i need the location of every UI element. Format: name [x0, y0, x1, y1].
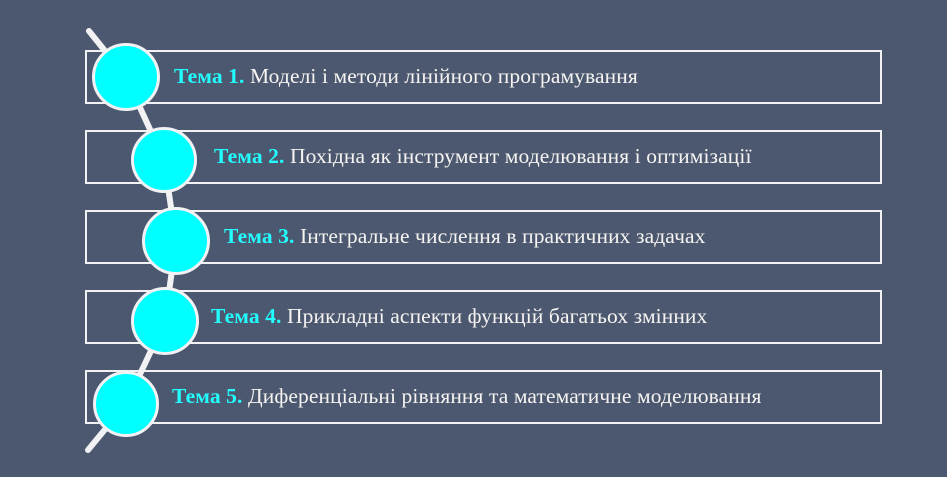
- topic-row-label: Тема 5. Диференціальні рівняння та матем…: [172, 386, 761, 408]
- diagram-canvas: Тема 1. Моделі і методи лінійного програ…: [0, 0, 947, 477]
- topic-row-label: Тема 3. Інтегральне числення в практични…: [224, 226, 705, 248]
- topic-title-text: Інтегральне числення в практичних задача…: [300, 224, 705, 248]
- timeline-node-circle[interactable]: [92, 43, 160, 111]
- timeline-node-circle[interactable]: [142, 207, 210, 275]
- topic-row[interactable]: Тема 2. Похідна як інструмент моделюванн…: [85, 130, 882, 184]
- topic-number-label: Тема 1.: [174, 64, 245, 88]
- topic-number-label: Тема 3.: [224, 224, 295, 248]
- timeline-node-circle[interactable]: [131, 287, 199, 355]
- topic-row[interactable]: Тема 1. Моделі і методи лінійного програ…: [85, 50, 882, 104]
- topic-row[interactable]: Тема 5. Диференціальні рівняння та матем…: [85, 370, 882, 424]
- timeline-node-circle[interactable]: [93, 371, 159, 437]
- topic-number-label: Тема 4.: [211, 304, 282, 328]
- topic-title-text: Похідна як інструмент моделювання і опти…: [290, 144, 752, 168]
- topic-title-text: Моделі і методи лінійного програмування: [250, 64, 638, 88]
- topic-number-label: Тема 2.: [214, 144, 285, 168]
- topic-row-label: Тема 2. Похідна як інструмент моделюванн…: [214, 146, 752, 168]
- timeline-node-circle[interactable]: [131, 127, 197, 193]
- topic-title-text: Прикладні аспекти функцій багатьох змінн…: [287, 304, 707, 328]
- topic-row-label: Тема 4. Прикладні аспекти функцій багать…: [211, 306, 707, 328]
- topic-title-text: Диференціальні рівняння та математичне м…: [248, 384, 761, 408]
- topic-row-label: Тема 1. Моделі і методи лінійного програ…: [174, 66, 638, 88]
- topic-row[interactable]: Тема 4. Прикладні аспекти функцій багать…: [85, 290, 882, 344]
- topic-number-label: Тема 5.: [172, 384, 243, 408]
